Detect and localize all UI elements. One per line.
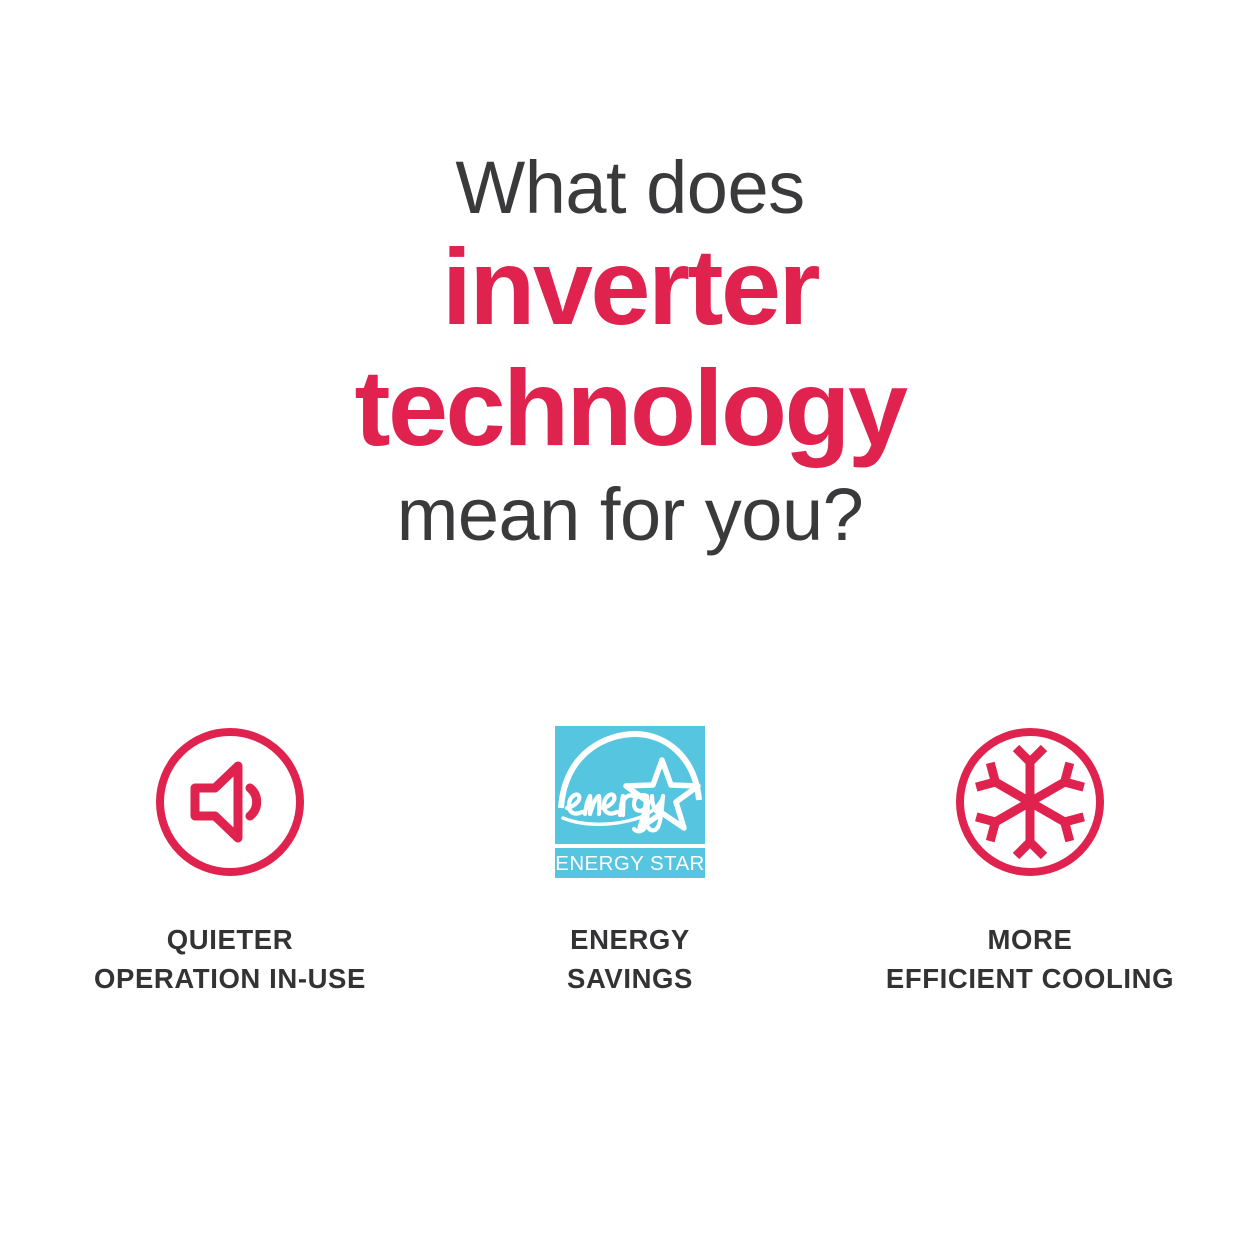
headline-line-2-emphasis: inverter xyxy=(0,227,1260,348)
feature-label-energy-savings: ENERGY SAVINGS xyxy=(567,920,693,998)
feature-icon-wrapper xyxy=(950,712,1110,892)
feature-label-line-2: EFFICIENT COOLING xyxy=(886,959,1174,998)
headline-line-1: What does xyxy=(0,150,1260,227)
energy-star-logo: ENERGY STAR xyxy=(555,726,705,878)
speaker-volume-icon xyxy=(150,722,310,882)
feature-label-line-1: ENERGY xyxy=(567,920,693,959)
feature-item-energy-savings: ENERGY STAR ENERGY SAVINGS xyxy=(430,712,830,998)
headline-line-3-emphasis: technology xyxy=(0,348,1260,469)
feature-label-line-2: OPERATION IN-USE xyxy=(94,959,366,998)
feature-item-more-efficient-cooling: MORE EFFICIENT COOLING xyxy=(830,712,1230,998)
feature-item-quieter-operation: QUIETER OPERATION IN-USE xyxy=(30,712,430,998)
feature-label-more-efficient-cooling: MORE EFFICIENT COOLING xyxy=(886,920,1174,998)
energy-star-band-text: ENERGY STAR xyxy=(555,852,704,875)
feature-icon-wrapper xyxy=(150,712,310,892)
page-title: What does inverter technology mean for y… xyxy=(0,150,1260,554)
headline-line-4: mean for you? xyxy=(0,477,1260,554)
snowflake-icon xyxy=(950,722,1110,882)
feature-label-line-1: MORE xyxy=(886,920,1174,959)
feature-label-line-1: QUIETER xyxy=(94,920,366,959)
feature-list: QUIETER OPERATION IN-USE xyxy=(0,712,1260,998)
infographic-page: What does inverter technology mean for y… xyxy=(0,0,1260,1260)
feature-label-quieter-operation: QUIETER OPERATION IN-USE xyxy=(94,920,366,998)
feature-label-line-2: SAVINGS xyxy=(567,959,693,998)
feature-icon-wrapper: ENERGY STAR xyxy=(555,712,705,892)
